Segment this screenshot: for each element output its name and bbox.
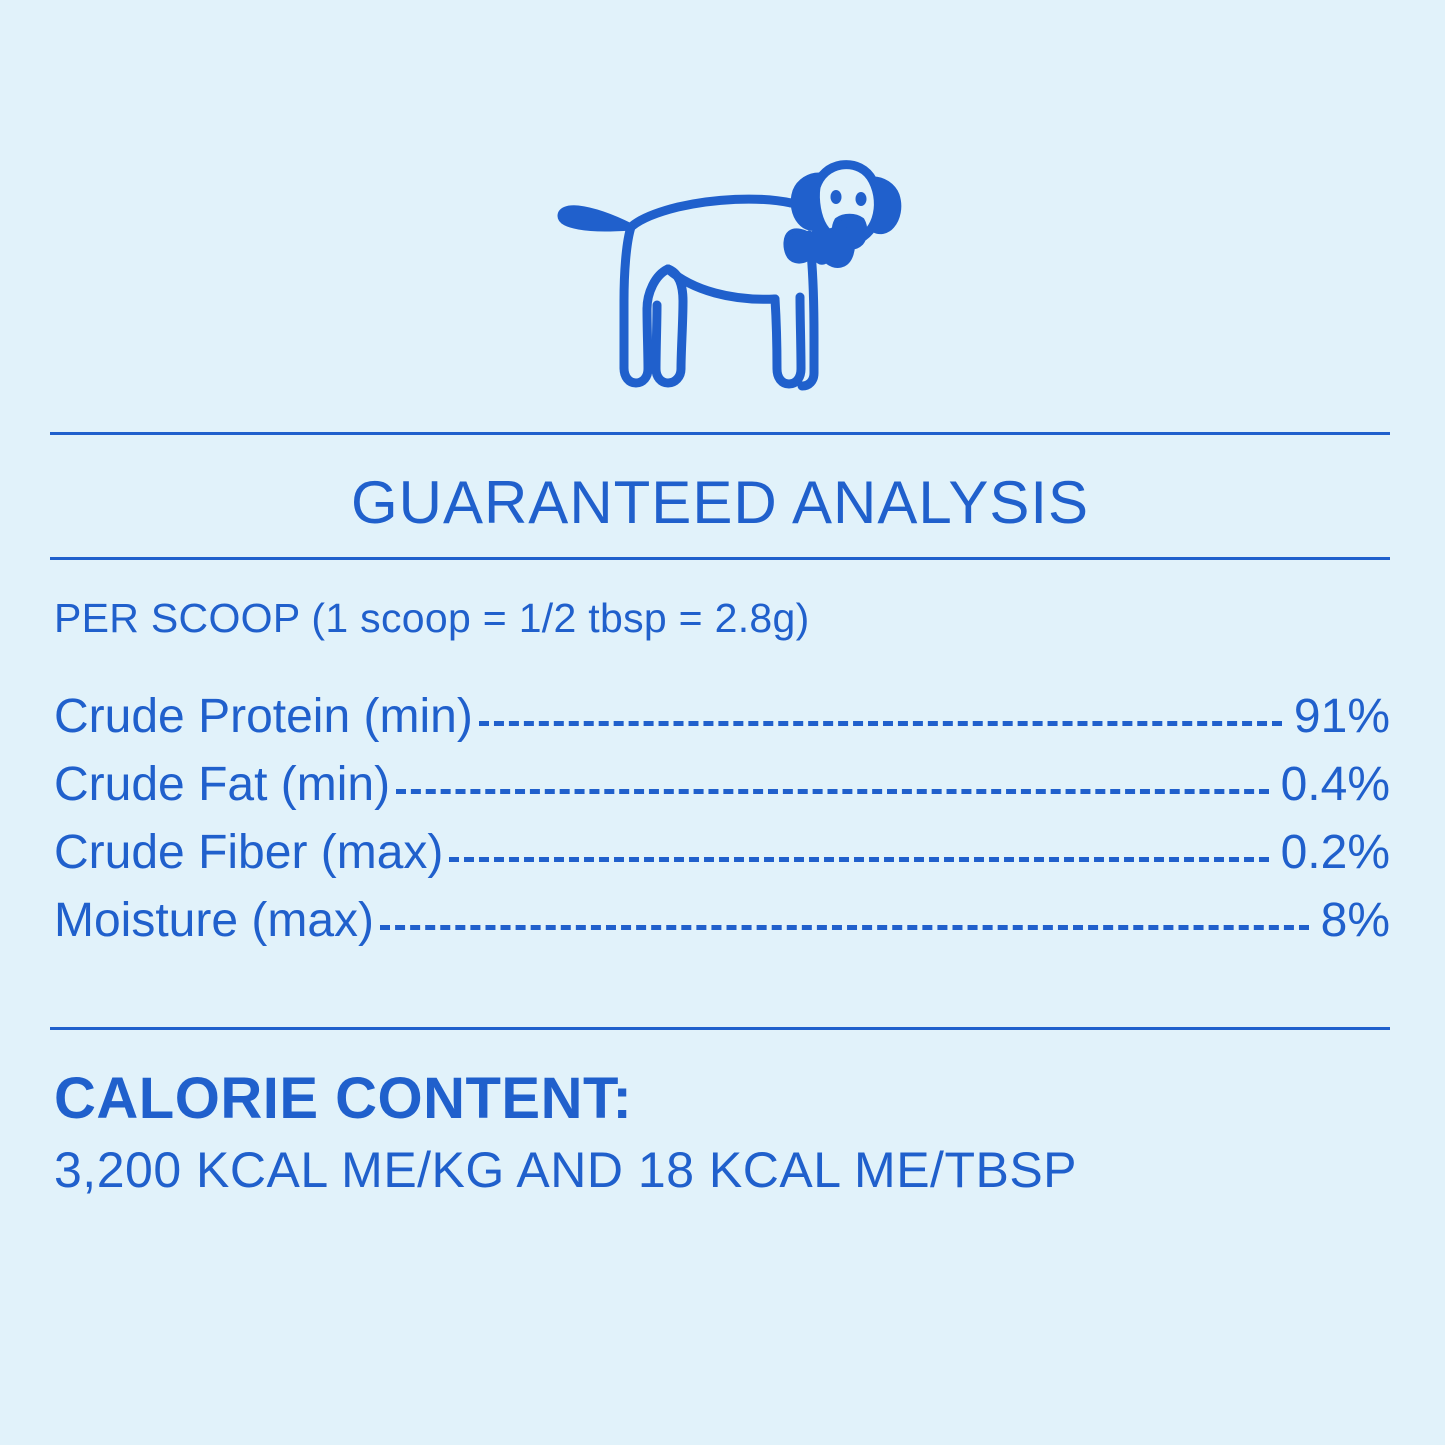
calorie-content-value: 3,200 KCAL ME/KG AND 18 KCAL ME/TBSP (54, 1135, 1077, 1205)
nutrient-label: Moisture (max) (54, 887, 374, 955)
nutrient-value: 91% (1294, 683, 1390, 751)
leader-dots (449, 856, 1268, 862)
table-row: Crude Fiber (max) 0.2% (54, 819, 1390, 887)
leader-dots (396, 788, 1269, 794)
nutrient-value: 8% (1321, 887, 1390, 955)
nutrient-label: Crude Fiber (max) (54, 819, 443, 887)
nutrient-label: Crude Protein (min) (54, 683, 473, 751)
guaranteed-analysis-label: GUARANTEED ANALYSIS PER SCOOP (1 scoop =… (0, 0, 1445, 1445)
leader-dots (479, 720, 1282, 726)
calorie-content-heading: CALORIE CONTENT: (54, 1063, 1077, 1135)
nutrient-table: Crude Protein (min) 91% Crude Fat (min) … (54, 683, 1390, 955)
divider-under-title (50, 557, 1390, 560)
table-row: Moisture (max) 8% (54, 887, 1390, 955)
table-row: Crude Protein (min) 91% (54, 683, 1390, 751)
dog-illustration (0, 118, 1445, 408)
page-title: GUARANTEED ANALYSIS (50, 455, 1390, 551)
calorie-content-section: CALORIE CONTENT: 3,200 KCAL ME/KG AND 18… (54, 1063, 1077, 1205)
table-row: Crude Fat (min) 0.4% (54, 751, 1390, 819)
nutrient-label: Crude Fat (min) (54, 751, 390, 819)
serving-size-text: PER SCOOP (1 scoop = 1/2 tbsp = 2.8g) (54, 592, 810, 644)
nutrient-value: 0.4% (1281, 751, 1390, 819)
divider-top (50, 432, 1390, 435)
divider-above-calories (50, 1027, 1390, 1030)
leader-dots (380, 924, 1309, 930)
dog-icon (523, 123, 923, 403)
nutrient-value: 0.2% (1281, 819, 1390, 887)
